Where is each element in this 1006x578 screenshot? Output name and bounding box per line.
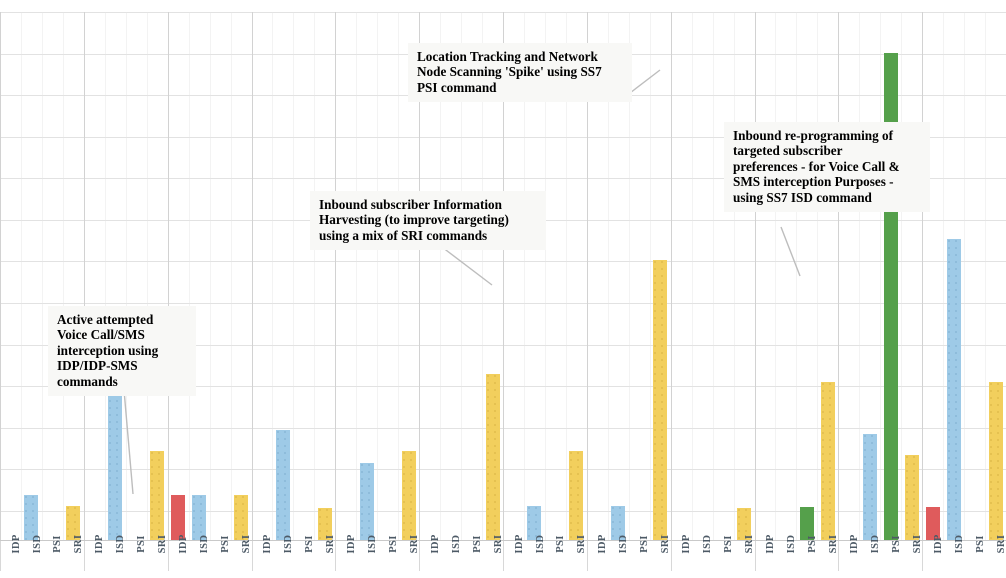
x-tick-idp-24: IDP bbox=[503, 541, 524, 578]
annotation-line: Harvesting (to improve targeting) bbox=[319, 212, 537, 227]
x-tick-label: PSI bbox=[807, 535, 818, 553]
x-tick-label: IDP bbox=[933, 534, 944, 553]
bar-sri-43 bbox=[905, 455, 919, 540]
x-tick-isd-25: ISD bbox=[524, 541, 545, 578]
annotation-line: Active attempted bbox=[57, 312, 187, 327]
x-tick-label: PSI bbox=[136, 535, 147, 553]
x-tick-label: IDP bbox=[262, 534, 273, 553]
annotation-line: Inbound re-programming of bbox=[733, 128, 921, 143]
leader-idp-interception bbox=[122, 388, 135, 496]
x-tick-label: PSI bbox=[975, 535, 986, 553]
annotation-line: targeted subscriber bbox=[733, 143, 921, 158]
bar-sri-39 bbox=[821, 382, 835, 540]
x-tick-label: IDP bbox=[178, 534, 189, 553]
x-tick-idp-8: IDP bbox=[168, 541, 189, 578]
x-tick-idp-0: IDP bbox=[0, 541, 21, 578]
x-tick-idp-44: IDP bbox=[922, 541, 943, 578]
x-tick-label: IDP bbox=[514, 534, 525, 553]
x-tick-label: PSI bbox=[723, 535, 734, 553]
x-tick-label: ISD bbox=[32, 535, 43, 554]
x-tick-psi-26: PSI bbox=[545, 541, 566, 578]
x-tick-psi-42: PSI bbox=[880, 541, 901, 578]
x-tick-idp-12: IDP bbox=[252, 541, 273, 578]
x-group-separator bbox=[755, 541, 756, 571]
x-tick-isd-17: ISD bbox=[356, 541, 377, 578]
x-tick-sri-15: SRI bbox=[314, 541, 335, 578]
x-tick-label: ISD bbox=[283, 535, 294, 554]
bar-sri-31 bbox=[653, 260, 667, 540]
x-tick-label: IDP bbox=[11, 534, 22, 553]
x-tick-psi-14: PSI bbox=[293, 541, 314, 578]
x-tick-sri-19: SRI bbox=[398, 541, 419, 578]
annotation-line: Voice Call/SMS bbox=[57, 327, 187, 342]
bar-sri-23 bbox=[486, 374, 500, 541]
x-tick-sri-7: SRI bbox=[147, 541, 168, 578]
x-tick-label: PSI bbox=[388, 535, 399, 553]
x-tick-label: IDP bbox=[765, 534, 776, 553]
x-tick-isd-41: ISD bbox=[859, 541, 880, 578]
leader-isd-reprogramming bbox=[779, 225, 802, 278]
annotation-line: commands bbox=[57, 374, 187, 389]
x-tick-isd-13: ISD bbox=[273, 541, 294, 578]
x-tick-label: PSI bbox=[891, 535, 902, 553]
x-tick-label: ISD bbox=[702, 535, 713, 554]
x-tick-psi-34: PSI bbox=[713, 541, 734, 578]
x-tick-label: PSI bbox=[639, 535, 650, 553]
x-group-separator bbox=[335, 541, 336, 571]
x-tick-label: PSI bbox=[220, 535, 231, 553]
x-tick-sri-23: SRI bbox=[482, 541, 503, 578]
annotation-line: using SS7 ISD command bbox=[733, 190, 921, 205]
x-tick-label: IDP bbox=[597, 534, 608, 553]
bar-isd-9 bbox=[192, 495, 206, 540]
x-tick-sri-39: SRI bbox=[817, 541, 838, 578]
bar-idp-8 bbox=[171, 495, 185, 541]
bar-sri-19 bbox=[402, 451, 416, 540]
x-tick-psi-2: PSI bbox=[42, 541, 63, 578]
x-tick-idp-36: IDP bbox=[755, 541, 776, 578]
bar-sri-11 bbox=[234, 495, 248, 540]
x-tick-label: ISD bbox=[954, 535, 965, 554]
annotation-psi-spike: Location Tracking and NetworkNode Scanni… bbox=[408, 43, 632, 102]
annotation-line: interception using bbox=[57, 343, 187, 358]
x-tick-psi-10: PSI bbox=[210, 541, 231, 578]
x-group-separator bbox=[168, 541, 169, 571]
x-tick-label: SRI bbox=[409, 535, 420, 554]
x-tick-label: SRI bbox=[660, 535, 671, 554]
x-tick-label: SRI bbox=[493, 535, 504, 554]
x-tick-psi-46: PSI bbox=[964, 541, 985, 578]
x-tick-sri-35: SRI bbox=[734, 541, 755, 578]
x-tick-idp-16: IDP bbox=[335, 541, 356, 578]
annotation-line: Node Scanning 'Spike' using SS7 bbox=[417, 64, 623, 79]
x-tick-psi-38: PSI bbox=[796, 541, 817, 578]
x-group-separator bbox=[838, 541, 839, 571]
annotation-line: PSI command bbox=[417, 80, 623, 95]
x-tick-label: IDP bbox=[430, 534, 441, 553]
x-axis-tick-labels: IDPISDPSISRIIDPISDPSISRIIDPISDPSISRIIDPI… bbox=[0, 541, 1006, 578]
x-tick-sri-43: SRI bbox=[901, 541, 922, 578]
bar-isd-41 bbox=[863, 434, 877, 540]
x-tick-isd-5: ISD bbox=[105, 541, 126, 578]
x-tick-label: ISD bbox=[115, 535, 126, 554]
annotation-sri-harvesting: Inbound subscriber InformationHarvesting… bbox=[310, 191, 546, 250]
x-tick-isd-1: ISD bbox=[21, 541, 42, 578]
bar-sri-7 bbox=[150, 451, 164, 540]
x-tick-idp-40: IDP bbox=[838, 541, 859, 578]
bar-isd-1 bbox=[24, 495, 38, 540]
x-tick-label: SRI bbox=[73, 535, 84, 554]
x-tick-label: ISD bbox=[618, 535, 629, 554]
x-tick-label: IDP bbox=[346, 534, 357, 553]
x-tick-label: IDP bbox=[681, 534, 692, 553]
x-tick-label: IDP bbox=[849, 534, 860, 553]
x-tick-label: ISD bbox=[451, 535, 462, 554]
x-tick-isd-45: ISD bbox=[943, 541, 964, 578]
x-tick-isd-37: ISD bbox=[776, 541, 797, 578]
x-tick-isd-9: ISD bbox=[189, 541, 210, 578]
x-group-separator bbox=[252, 541, 253, 571]
x-tick-psi-6: PSI bbox=[126, 541, 147, 578]
x-tick-psi-22: PSI bbox=[461, 541, 482, 578]
leader-psi-spike bbox=[628, 68, 662, 95]
x-tick-label: ISD bbox=[870, 535, 881, 554]
x-tick-label: ISD bbox=[786, 535, 797, 554]
x-tick-label: SRI bbox=[325, 535, 336, 554]
x-tick-sri-47: SRI bbox=[985, 541, 1006, 578]
bar-isd-45 bbox=[947, 239, 961, 540]
x-tick-label: SRI bbox=[744, 535, 755, 554]
bar-sri-47 bbox=[989, 382, 1003, 540]
bar-isd-17 bbox=[360, 463, 374, 540]
annotation-line: using a mix of SRI commands bbox=[319, 228, 537, 243]
x-group-separator bbox=[587, 541, 588, 571]
x-tick-label: SRI bbox=[157, 535, 168, 554]
x-tick-label: ISD bbox=[367, 535, 378, 554]
annotation-line: Inbound subscriber Information bbox=[319, 197, 537, 212]
bar-sri-27 bbox=[569, 451, 583, 540]
x-tick-idp-20: IDP bbox=[419, 541, 440, 578]
x-group-separator bbox=[922, 541, 923, 571]
x-tick-label: PSI bbox=[555, 535, 566, 553]
x-tick-psi-18: PSI bbox=[377, 541, 398, 578]
x-tick-label: PSI bbox=[304, 535, 315, 553]
x-tick-isd-33: ISD bbox=[692, 541, 713, 578]
x-tick-isd-29: ISD bbox=[608, 541, 629, 578]
x-tick-label: ISD bbox=[199, 535, 210, 554]
annotation-line: IDP/IDP-SMS bbox=[57, 358, 187, 373]
x-group-separator bbox=[671, 541, 672, 571]
bar-isd-5 bbox=[108, 378, 122, 541]
x-tick-label: SRI bbox=[912, 535, 923, 554]
annotation-idp-interception: Active attemptedVoice Call/SMSintercepti… bbox=[48, 306, 196, 396]
annotation-line: preferences - for Voice Call & bbox=[733, 159, 921, 174]
x-tick-label: SRI bbox=[241, 535, 252, 554]
x-tick-label: PSI bbox=[52, 535, 63, 553]
x-tick-isd-21: ISD bbox=[440, 541, 461, 578]
x-tick-label: SRI bbox=[996, 535, 1006, 554]
x-tick-label: ISD bbox=[535, 535, 546, 554]
x-tick-sri-3: SRI bbox=[63, 541, 84, 578]
x-tick-label: SRI bbox=[576, 535, 587, 554]
x-tick-idp-32: IDP bbox=[671, 541, 692, 578]
x-tick-sri-27: SRI bbox=[566, 541, 587, 578]
x-tick-label: IDP bbox=[94, 534, 105, 553]
annotation-line: Location Tracking and Network bbox=[417, 49, 623, 64]
annotation-isd-reprogramming: Inbound re-programming oftargeted subscr… bbox=[724, 122, 930, 212]
x-tick-sri-31: SRI bbox=[650, 541, 671, 578]
annotation-line: SMS interception Purposes - bbox=[733, 174, 921, 189]
x-tick-sri-11: SRI bbox=[231, 541, 252, 578]
x-group-separator bbox=[84, 541, 85, 571]
x-tick-idp-28: IDP bbox=[587, 541, 608, 578]
x-tick-idp-4: IDP bbox=[84, 541, 105, 578]
bar-isd-13 bbox=[276, 430, 290, 540]
x-tick-label: SRI bbox=[828, 535, 839, 554]
ss7-signalling-bar-chart: IDPISDPSISRIIDPISDPSISRIIDPISDPSISRIIDPI… bbox=[0, 0, 1006, 578]
x-group-separator bbox=[419, 541, 420, 571]
x-group-separator bbox=[503, 541, 504, 571]
x-tick-label: PSI bbox=[472, 535, 483, 553]
x-group-separator bbox=[0, 541, 1, 571]
x-tick-psi-30: PSI bbox=[629, 541, 650, 578]
